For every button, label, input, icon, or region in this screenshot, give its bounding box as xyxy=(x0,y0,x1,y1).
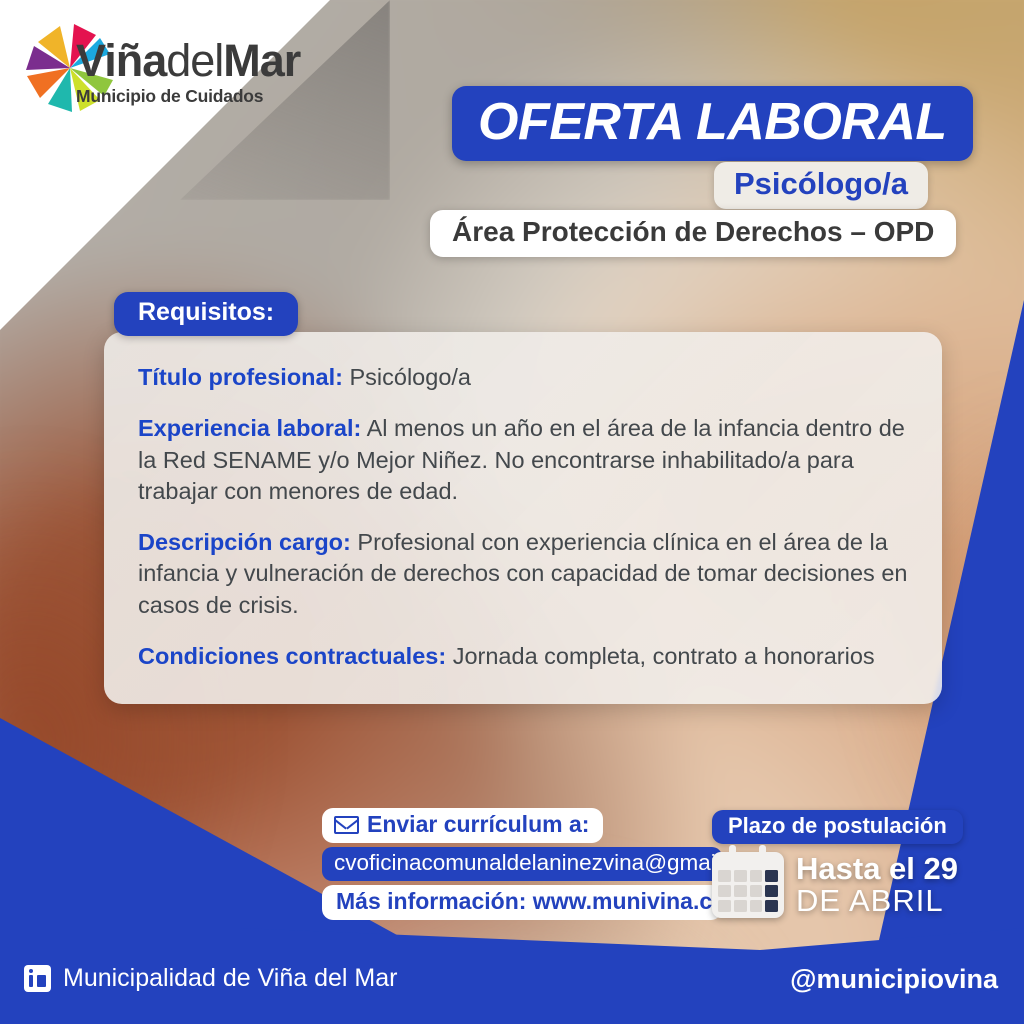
role-label: Psicólogo/a xyxy=(734,168,908,201)
requirement-item: Experiencia laboral: Al menos un año en … xyxy=(138,413,908,507)
requirement-label: Condiciones contractuales: xyxy=(138,643,446,669)
send-cv-row: Enviar currículum a: xyxy=(322,808,603,843)
role-chip: Psicólogo/a xyxy=(714,162,928,209)
requirement-label: Experiencia laboral: xyxy=(138,415,361,441)
logo-wordmark: ViñadelMar xyxy=(76,38,300,83)
social-handle-block[interactable]: @municipiovina xyxy=(790,964,998,995)
deadline-block: Plazo de postulación Hasta el 29 DE ABRI… xyxy=(712,810,982,918)
job-offer-poster: ViñadelMar Municipio de Cuidados OFERTA … xyxy=(0,0,1024,1024)
deadline-line-2: DE ABRIL xyxy=(796,885,958,918)
requirement-item: Título profesional: Psicólogo/a xyxy=(138,362,908,393)
linkedin-icon xyxy=(24,965,51,992)
page-title: OFERTA LABORAL xyxy=(478,96,947,148)
email-address[interactable]: cvoficinacomunaldelaninezvina@gmail.com xyxy=(334,850,770,875)
contact-block: Enviar currículum a: cvoficinacomunaldel… xyxy=(322,808,722,920)
deadline-chip: Plazo de postulación xyxy=(712,810,963,844)
logo-subtitle: Municipio de Cuidados xyxy=(76,86,300,107)
linkedin-name[interactable]: Municipalidad de Viña del Mar xyxy=(63,964,397,993)
requirements-card: Título profesional: Psicólogo/a Experien… xyxy=(104,332,942,704)
deadline-line-1: Hasta el 29 xyxy=(796,853,958,885)
poster-title-banner: OFERTA LABORAL xyxy=(452,86,973,161)
social-handle[interactable]: @municipiovina xyxy=(790,964,998,994)
footer: Municipalidad de Viña del Mar @municipio… xyxy=(0,950,1024,1024)
more-info-label[interactable]: Más información: www.munivina.cl xyxy=(336,888,719,914)
area-label: Área Protección de Derechos – OPD xyxy=(452,217,934,248)
send-cv-label: Enviar currículum a: xyxy=(367,811,589,837)
email-chip[interactable]: cvoficinacomunaldelaninezvina@gmail.com xyxy=(322,847,722,881)
linkedin-block[interactable]: Municipalidad de Viña del Mar xyxy=(24,964,397,993)
requirement-label: Descripción cargo: xyxy=(138,529,351,555)
deadline-chip-label: Plazo de postulación xyxy=(728,813,947,838)
more-info-chip[interactable]: Más información: www.munivina.cl xyxy=(322,885,722,920)
requirement-item: Condiciones contractuales: Jornada compl… xyxy=(138,641,908,672)
calendar-icon xyxy=(712,852,784,918)
requirement-text: Jornada completa, contrato a honorarios xyxy=(446,643,874,669)
envelope-icon xyxy=(334,816,359,834)
requirement-text: Psicólogo/a xyxy=(343,364,471,390)
requirement-item: Descripción cargo: Profesional con exper… xyxy=(138,527,908,621)
vina-del-mar-logo: ViñadelMar Municipio de Cuidados xyxy=(18,14,280,118)
area-chip: Área Protección de Derechos – OPD xyxy=(430,210,956,257)
requirement-label: Título profesional: xyxy=(138,364,343,390)
requirements-tab: Requisitos: xyxy=(114,292,298,336)
requirements-tab-label: Requisitos: xyxy=(138,299,274,327)
